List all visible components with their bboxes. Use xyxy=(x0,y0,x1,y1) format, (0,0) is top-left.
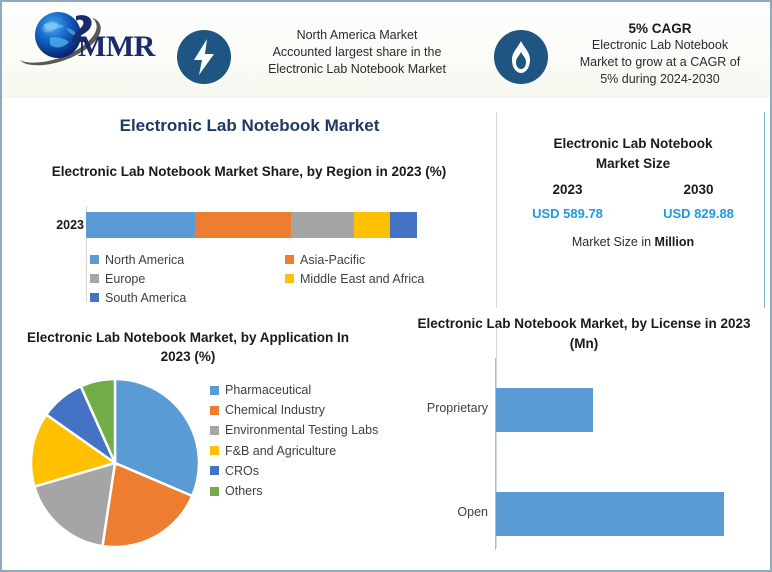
legend-swatch-icon xyxy=(210,487,219,496)
application-legend: PharmaceuticalChemical IndustryEnvironme… xyxy=(210,380,410,501)
application-chart-title: Electronic Lab Notebook Market, by Appli… xyxy=(18,328,358,366)
region-legend-item[interactable]: Europe xyxy=(90,269,285,288)
lightning-bolt-icon xyxy=(177,30,231,84)
application-legend-label: Pharmaceutical xyxy=(225,383,311,397)
license-bar-row: Open xyxy=(406,492,766,536)
market-size-panel: Electronic Lab Notebook Market Size 2023… xyxy=(502,134,764,249)
region-category-label: 2023 xyxy=(32,218,84,232)
highlight-2-line-3: 5% during 2024-2030 xyxy=(554,71,766,88)
application-legend-label: F&B and Agriculture xyxy=(225,444,336,458)
region-segment xyxy=(354,212,390,238)
region-share-chart: 2023 North AmericaAsia-PacificEuropeMidd… xyxy=(24,206,479,316)
region-legend-item[interactable]: North America xyxy=(90,250,285,269)
market-size-title: Electronic Lab Notebook Market Size xyxy=(502,134,764,174)
license-chart-title: Electronic Lab Notebook Market, by Licen… xyxy=(406,314,762,354)
region-legend-label: North America xyxy=(105,253,184,267)
market-size-title-line-1: Electronic Lab Notebook xyxy=(502,134,764,154)
market-size-values-row: USD 589.78 USD 829.88 xyxy=(502,206,764,221)
highlight-2-line-1: Electronic Lab Notebook xyxy=(554,37,766,54)
market-size-unit-prefix: Market Size in xyxy=(572,235,655,249)
legend-swatch-icon xyxy=(210,406,219,415)
license-category-label: Open xyxy=(406,505,488,519)
legend-swatch-icon xyxy=(90,293,99,302)
market-size-unit-value: Million xyxy=(655,235,695,249)
market-size-years-row: 2023 2030 xyxy=(502,182,764,197)
region-segment xyxy=(390,212,416,238)
application-legend-item[interactable]: Pharmaceutical xyxy=(210,380,410,400)
region-segment xyxy=(291,212,354,238)
region-legend-label: Europe xyxy=(105,272,145,286)
panel-divider-vertical xyxy=(496,112,497,308)
page-title: Electronic Lab Notebook Market xyxy=(2,116,497,136)
cagr-value: 5% CAGR xyxy=(554,20,766,37)
region-legend-item[interactable]: Asia-Pacific xyxy=(285,250,480,269)
region-legend-label: Asia-Pacific xyxy=(300,253,365,267)
application-legend-label: CROs xyxy=(225,464,259,478)
application-legend-label: Environmental Testing Labs xyxy=(225,423,378,437)
market-size-title-line-2: Market Size xyxy=(502,154,764,174)
region-legend-label: Middle East and Africa xyxy=(300,272,424,286)
legend-swatch-icon xyxy=(210,466,219,475)
legend-swatch-icon xyxy=(285,274,294,283)
market-size-value-forecast: USD 829.88 xyxy=(633,206,764,221)
region-legend: North AmericaAsia-PacificEuropeMiddle Ea… xyxy=(90,250,480,307)
license-category-label: Proprietary xyxy=(406,401,488,415)
legend-swatch-icon xyxy=(285,255,294,264)
application-legend-item[interactable]: CROs xyxy=(210,461,410,481)
highlight-2-line-2: Market to grow at a CAGR of xyxy=(554,54,766,71)
application-legend-item[interactable]: Others xyxy=(210,481,410,501)
application-pie-chart xyxy=(32,374,202,552)
region-legend-label: South America xyxy=(105,291,186,305)
legend-swatch-icon xyxy=(90,255,99,264)
market-size-year-forecast: 2030 xyxy=(633,182,764,197)
application-legend-label: Others xyxy=(225,484,263,498)
application-legend-label: Chemical Industry xyxy=(225,403,325,417)
header-band: MMR North America Market Accounted large… xyxy=(2,2,770,98)
region-chart-title: Electronic Lab Notebook Market Share, by… xyxy=(24,162,474,181)
region-legend-item[interactable]: Middle East and Africa xyxy=(285,269,480,288)
highlight-1-line-2: Accounted largest share in the xyxy=(240,44,474,61)
header-highlight-1-text: North America Market Accounted largest s… xyxy=(240,27,474,78)
license-bar-chart: ProprietaryOpen xyxy=(406,358,766,554)
highlight-1-line-1: North America Market xyxy=(240,27,474,44)
application-legend-item[interactable]: F&B and Agriculture xyxy=(210,441,410,461)
logo-wordmark: MMR xyxy=(78,30,155,64)
region-segment xyxy=(195,212,291,238)
license-bar xyxy=(496,388,593,432)
license-bar xyxy=(496,492,724,536)
header-highlight-2-text: 5% CAGR Electronic Lab Notebook Market t… xyxy=(554,20,766,88)
legend-swatch-icon xyxy=(210,446,219,455)
pie-svg xyxy=(32,374,202,552)
region-stacked-bar xyxy=(86,212,417,238)
legend-swatch-icon xyxy=(210,386,219,395)
region-segment xyxy=(86,212,195,238)
application-legend-item[interactable]: Environmental Testing Labs xyxy=(210,420,410,440)
highlight-1-line-3: Electronic Lab Notebook Market xyxy=(240,61,474,78)
flame-icon xyxy=(494,30,548,84)
application-legend-item[interactable]: Chemical Industry xyxy=(210,400,410,420)
mmr-logo: MMR xyxy=(14,8,166,70)
license-bar-row: Proprietary xyxy=(406,388,766,432)
legend-swatch-icon xyxy=(90,274,99,283)
market-size-unit-note: Market Size in Million xyxy=(502,235,764,249)
region-legend-item[interactable]: South America xyxy=(90,288,285,307)
panel-divider-right xyxy=(764,112,765,308)
infographic-page: MMR North America Market Accounted large… xyxy=(0,0,772,572)
market-size-value-base: USD 589.78 xyxy=(502,206,633,221)
legend-swatch-icon xyxy=(210,426,219,435)
market-size-year-base: 2023 xyxy=(502,182,633,197)
